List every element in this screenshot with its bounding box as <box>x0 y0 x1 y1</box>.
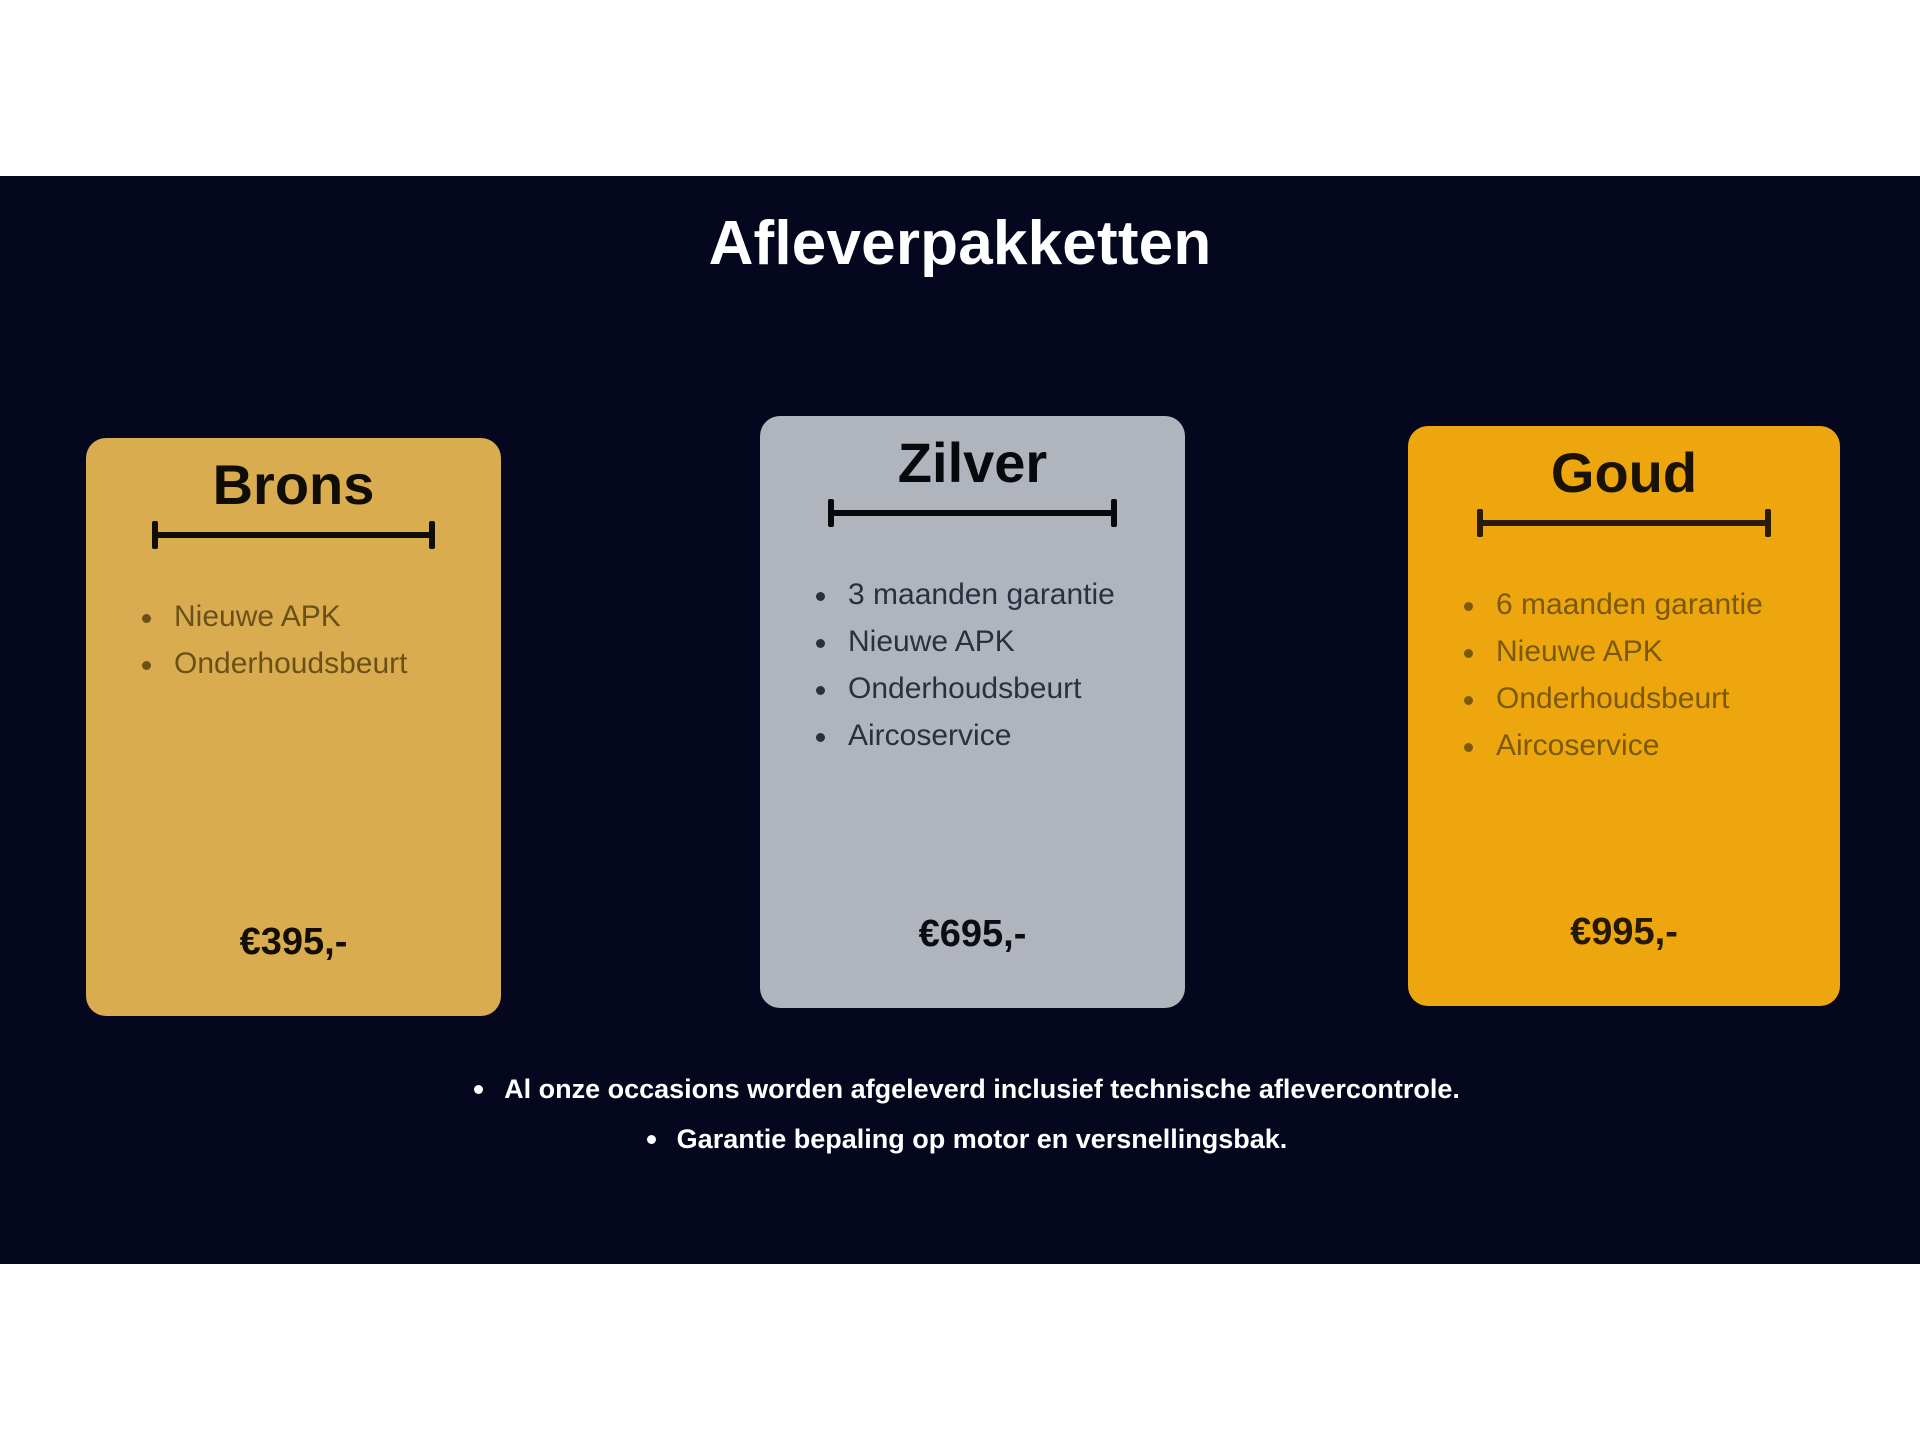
list-item: Nieuwe APK <box>132 593 481 640</box>
price-brons: €395,- <box>86 921 501 964</box>
footer-notes: Al onze occasions worden afgeleverd incl… <box>0 1064 1920 1164</box>
package-name-brons: Brons <box>86 456 501 515</box>
card-header-brons: Brons <box>86 456 501 549</box>
dimension-line-icon <box>152 521 434 549</box>
dimension-cap-right <box>429 521 435 549</box>
price-goud: €995,- <box>1408 911 1840 954</box>
list-item: Onderhoudsbeurt <box>132 640 481 687</box>
card-header-goud: Goud <box>1408 444 1840 537</box>
package-card-list: Brons Nieuwe APK Onderhoudsbeurt €395,- … <box>0 416 1920 1036</box>
package-card-zilver[interactable]: Zilver 3 maanden garantie Nieuwe APK Ond… <box>760 416 1185 1008</box>
list-item: Onderhoudsbeurt <box>1454 675 1820 722</box>
dimension-cap-right <box>1765 509 1771 537</box>
list-item: Nieuwe APK <box>1454 628 1820 675</box>
feature-list-brons: Nieuwe APK Onderhoudsbeurt <box>132 593 481 687</box>
footer-note-row: Al onze occasions worden afgeleverd incl… <box>0 1064 1920 1114</box>
footer-note: Al onze occasions worden afgeleverd incl… <box>460 1064 1460 1114</box>
dimension-bar <box>152 532 434 538</box>
feature-list-goud: 6 maanden garantie Nieuwe APK Onderhouds… <box>1454 581 1820 769</box>
card-header-zilver: Zilver <box>760 434 1185 527</box>
dimension-cap-right <box>1111 499 1117 527</box>
footer-note-row: Garantie bepaling op motor en versnellin… <box>0 1114 1920 1164</box>
slide-canvas: Afleverpakketten Brons Nieuwe APK Onderh… <box>0 176 1920 1264</box>
footer-note: Garantie bepaling op motor en versnellin… <box>633 1114 1288 1164</box>
package-name-zilver: Zilver <box>760 434 1185 493</box>
package-card-goud[interactable]: Goud 6 maanden garantie Nieuwe APK Onder… <box>1408 426 1840 1006</box>
package-name-goud: Goud <box>1408 444 1840 503</box>
list-item: Aircoservice <box>806 712 1165 759</box>
list-item: 6 maanden garantie <box>1454 581 1820 628</box>
feature-list-zilver: 3 maanden garantie Nieuwe APK Onderhouds… <box>806 571 1165 759</box>
dimension-line-icon <box>1477 509 1771 537</box>
page-title: Afleverpakketten <box>0 208 1920 279</box>
dimension-line-icon <box>828 499 1117 527</box>
dimension-bar <box>828 510 1117 516</box>
list-item: Aircoservice <box>1454 722 1820 769</box>
list-item: Onderhoudsbeurt <box>806 665 1165 712</box>
list-item: Nieuwe APK <box>806 618 1165 665</box>
price-zilver: €695,- <box>760 913 1185 956</box>
dimension-bar <box>1477 520 1771 526</box>
list-item: 3 maanden garantie <box>806 571 1165 618</box>
package-card-brons[interactable]: Brons Nieuwe APK Onderhoudsbeurt €395,- <box>86 438 501 1016</box>
